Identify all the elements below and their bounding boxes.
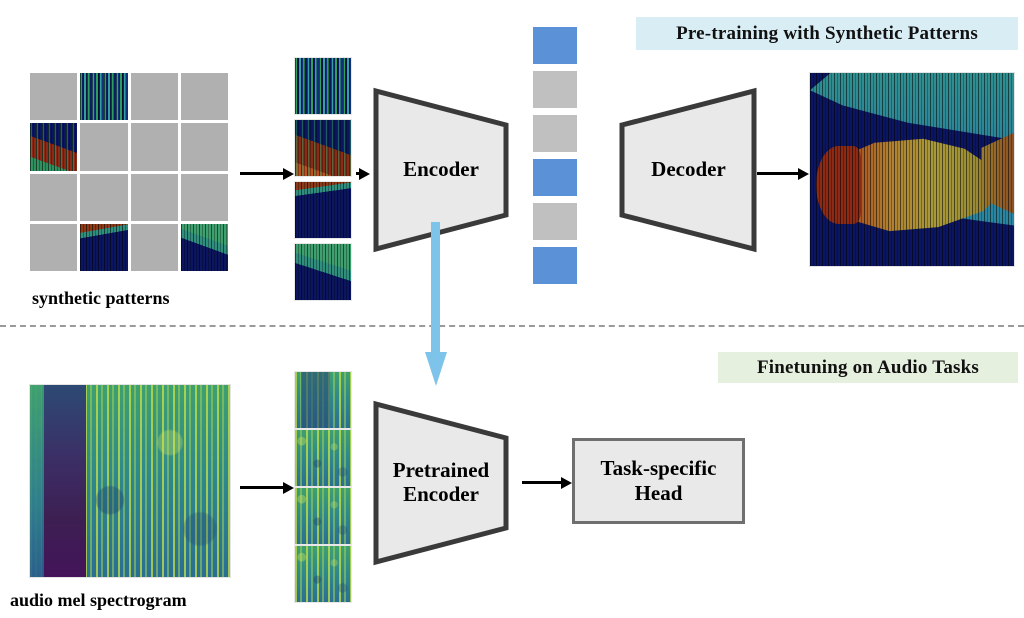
spectrogram-patch [295,372,351,428]
grid-cell-masked [181,174,228,221]
caption-synthetic-patterns: synthetic patterns [32,288,170,309]
task-head-label-line2: Head [601,481,717,506]
synthetic-patch [295,58,351,114]
arrow-encoder-transfer [425,222,447,386]
pretrained-encoder-label-line2: Encoder [372,482,510,506]
grid-cell-visible [80,73,127,120]
grid-cell-masked [131,123,178,170]
arrow-grid-to-patches [240,168,294,180]
grid-cell-masked [131,174,178,221]
grid-cell-masked [181,73,228,120]
banner-pretraining: Pre-training with Synthetic Patterns [636,17,1018,50]
grid-cell-masked [30,73,77,120]
banner-finetuning: Finetuning on Audio Tasks [718,352,1018,383]
arrow-decoder-to-output [757,168,809,180]
grid-cell-masked [131,73,178,120]
latent-token-column [533,27,577,284]
diagram-canvas: Pre-training with Synthetic Patterns Fin… [0,0,1024,618]
spectrogram-patch [295,488,351,544]
decoder-label: Decoder [616,157,761,181]
latent-token-visible [533,247,577,284]
synthetic-patch [295,120,351,176]
pretrained-encoder-label-line1: Pretrained [372,458,510,482]
task-specific-head-block[interactable]: Task-specific Head [572,438,745,524]
latent-token-visible [533,27,577,64]
encoder-label: Encoder [372,157,510,181]
masked-synthetic-grid [30,73,228,271]
arrow-encoder-to-head [522,477,572,489]
grid-cell-visible [30,123,77,170]
arrow-patches-to-encoder [356,168,370,180]
arrow-spectrogram-to-patches [240,482,294,494]
spectrogram-patch [295,430,351,486]
grid-cell-masked [30,174,77,221]
grid-cell-masked [30,224,77,271]
grid-cell-masked [80,123,127,170]
grid-cell-visible [80,224,127,271]
pretrained-encoder-block[interactable]: Pretrained Encoder [372,400,510,566]
grid-cell-masked [80,174,127,221]
synthetic-patch [295,244,351,300]
reconstructed-output-image [810,73,1014,266]
latent-token-visible [533,159,577,196]
decoder-block[interactable]: Decoder [616,87,761,253]
synthetic-patch [295,182,351,238]
audio-mel-spectrogram [30,385,230,577]
section-divider [0,325,1024,327]
spectrogram-patch [295,546,351,602]
caption-audio-mel-spectrogram: audio mel spectrogram [10,590,187,611]
task-head-label-line1: Task-specific [601,456,717,481]
grid-cell-visible [181,224,228,271]
grid-cell-masked [131,224,178,271]
latent-token-masked [533,115,577,152]
latent-token-masked [533,203,577,240]
grid-cell-masked [181,123,228,170]
latent-token-masked [533,71,577,108]
